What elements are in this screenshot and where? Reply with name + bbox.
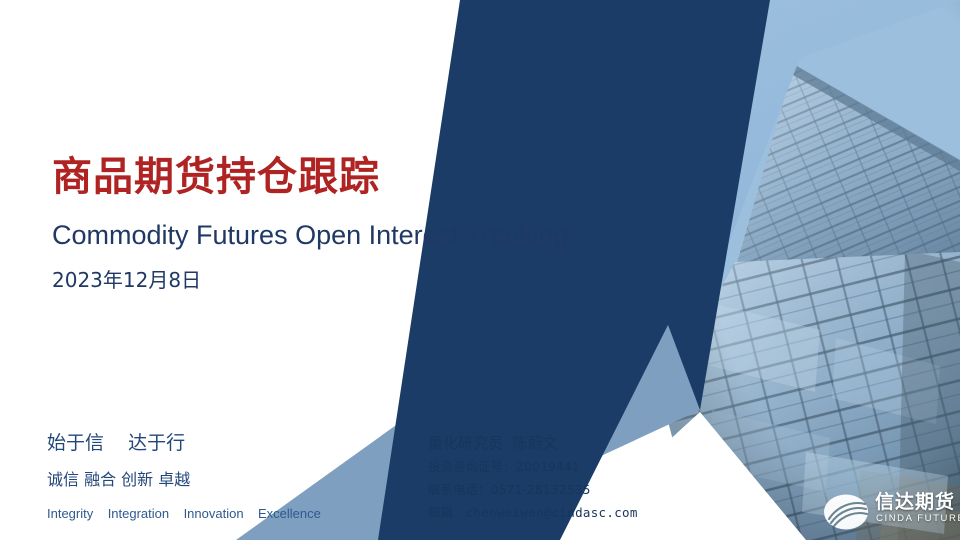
cinda-futures-logo: 信达期货 CINDA FUTURES	[823, 492, 953, 532]
logo-name-cn: 信达期货	[875, 491, 955, 513]
page-date: 2023年12月8日	[52, 265, 201, 295]
contact-email-value: chenweiwen@cindasc.com	[466, 501, 638, 524]
page-title-cn: 商品期货持仓跟踪	[52, 152, 380, 202]
page-title-en: Commodity Futures Open Interest Tracking	[52, 218, 568, 252]
wave-circle-icon	[823, 493, 869, 531]
slogan-main: 始于信 达于行	[47, 430, 185, 456]
slogan-english: Integrity Integration Innovation Excelle…	[47, 504, 321, 524]
contact-email-label: 邮箱：	[428, 501, 466, 524]
logo-name-en: CINDA FUTURES	[876, 513, 960, 524]
contact-email-row: 邮箱： chenweiwen@cindasc.com	[428, 501, 638, 524]
contact-license: 投资咨询证号：Z0019441	[428, 455, 638, 478]
contact-block: 量化研究员 陈蔚文 投资咨询证号：Z0019441 联系电话：0571-2813…	[428, 432, 638, 524]
contact-phone: 联系电话：0571-28132535	[428, 478, 638, 501]
slide-text-layer: 商品期货持仓跟踪 Commodity Futures Open Interest…	[0, 0, 960, 540]
slogan-sub: 诚信 融合 创新 卓越	[47, 468, 190, 492]
contact-analyst-name: 量化研究员 陈蔚文	[428, 432, 638, 455]
slide-canvas: 商品期货持仓跟踪 Commodity Futures Open Interest…	[0, 0, 960, 540]
